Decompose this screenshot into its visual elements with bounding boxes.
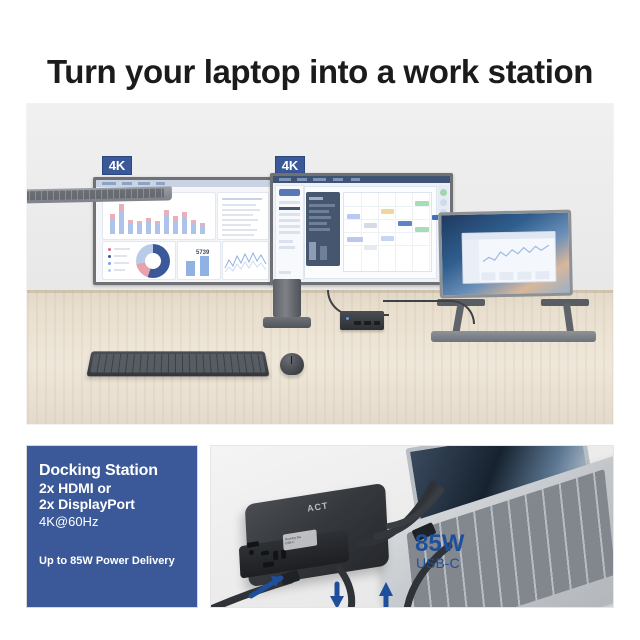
feature-line-resolution: 4K@60Hz: [39, 514, 197, 531]
page-title: Turn your laptop into a work station: [0, 44, 640, 100]
calendar-topbar: [273, 176, 450, 183]
window-sidebar: [463, 240, 480, 283]
calendar-event[interactable]: [381, 209, 394, 214]
feature-power-delivery: Up to 85W Power Delivery: [39, 555, 197, 567]
laptop-chart-window: [462, 231, 557, 284]
bar-series: [110, 200, 210, 234]
kpi-bar-b: [200, 256, 209, 276]
laptop-stand-leg: [563, 303, 574, 334]
list-card: [217, 192, 269, 240]
calendar-event[interactable]: [381, 236, 394, 241]
docking-station-on-desk: [340, 311, 384, 330]
calendar-grid: [343, 192, 432, 272]
power-label-85w: 85W: [415, 530, 464, 558]
dock-status-led: [346, 317, 349, 320]
calendar-event[interactable]: [415, 227, 429, 232]
keyboard-keys: [90, 354, 265, 373]
laptop-screen: [438, 210, 573, 299]
hero-photo-workstation: 4K 4K: [26, 103, 614, 425]
laptop-keyboard: [26, 189, 164, 201]
arrow-up-icon: [379, 582, 393, 608]
kpi-bar-a: [186, 261, 195, 276]
line-chart: [223, 242, 268, 279]
product-infographic: Turn your laptop into a work station 4K …: [0, 0, 640, 640]
arrow-down-icon: [330, 584, 344, 608]
kpi-card: 5739: [177, 241, 221, 280]
calendar-event[interactable]: [398, 221, 412, 226]
donut-chart: [136, 244, 170, 278]
calendar-event[interactable]: [347, 237, 363, 242]
calendar-scheduler: [273, 176, 450, 282]
calendar-sidebar: [275, 185, 304, 280]
donut-chart-card: [102, 241, 176, 280]
cable-group: [211, 446, 614, 608]
calendar-event[interactable]: [364, 245, 377, 250]
laptop: [438, 210, 573, 299]
laptop-line-chart: [481, 240, 554, 270]
new-event-button[interactable]: [279, 189, 300, 196]
calendar-detail-card: [306, 192, 340, 266]
monitor-right: [270, 173, 453, 285]
laptop-stand-base-plate: [431, 331, 596, 342]
dashboard-topbar: [96, 180, 273, 187]
monitor-stand-neck: [273, 279, 301, 317]
feature-line-displayport: 2x DisplayPort: [39, 496, 197, 513]
feature-line-hdmi: 2x HDMI or: [39, 480, 197, 497]
calendar-event[interactable]: [347, 214, 360, 219]
feature-panel: Docking Station 2x HDMI or 2x DisplayPor…: [26, 445, 198, 608]
product-photo-dock-and-laptop: ACT Docking StaUSB-C: [210, 445, 614, 608]
feature-title: Docking Station: [39, 462, 197, 480]
keyboard[interactable]: [86, 351, 269, 376]
monitor-stand: [263, 279, 311, 328]
window-footer-rows: [481, 267, 553, 281]
badge-4k-left: 4K: [102, 156, 132, 175]
port-label-usbc: USB-C: [416, 555, 460, 571]
monitor-stand-base: [263, 317, 311, 328]
calendar-event[interactable]: [364, 223, 377, 228]
calendar-event[interactable]: [415, 201, 429, 206]
mouse[interactable]: [280, 353, 304, 375]
line-chart-card: [222, 241, 269, 280]
monitor-right-screen: [273, 176, 450, 282]
dock-cable-right: [383, 300, 475, 324]
